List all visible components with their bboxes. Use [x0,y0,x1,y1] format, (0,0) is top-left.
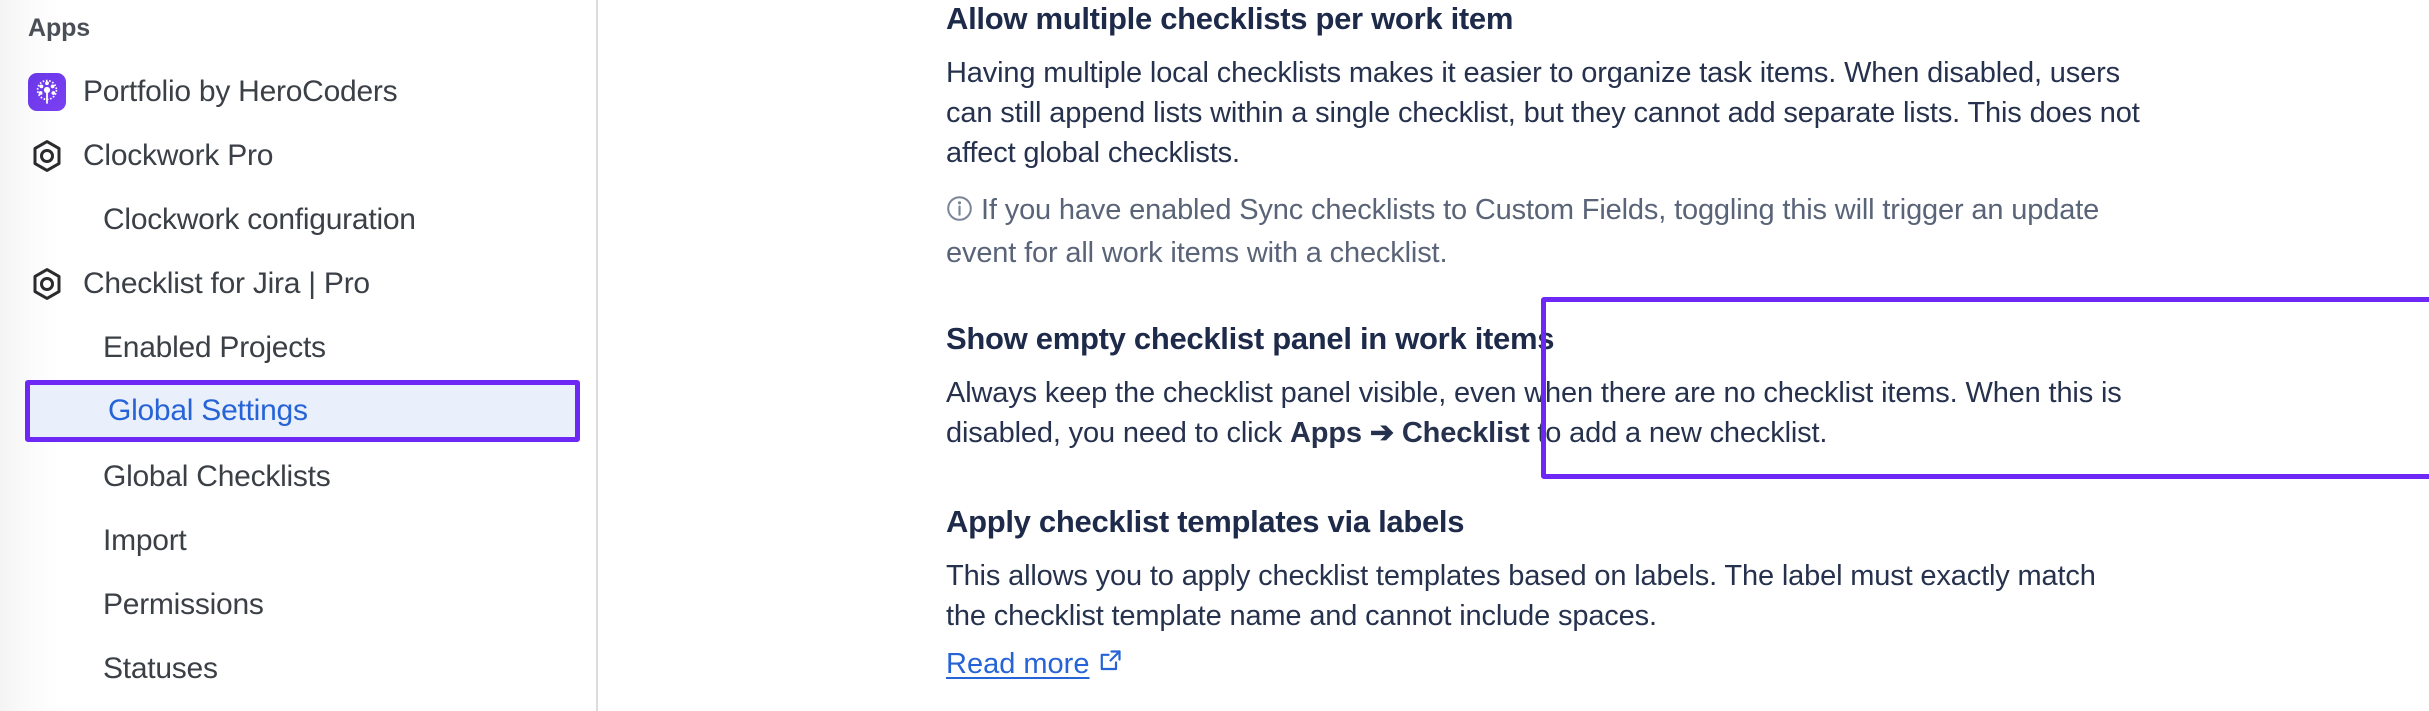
setting-description: This allows you to apply checklist templ… [946,556,2141,636]
sidebar: Apps Portfolio by HeroCoders [0,0,598,711]
sidebar-item-label: Enabled Projects [103,331,326,365]
sidebar-item-global-settings[interactable]: Global Settings [25,380,580,442]
sidebar-item-label: Global Checklists [103,460,331,494]
setting-description-bold: Apps ➔ Checklist [1290,417,1529,449]
hexagon-gear-icon [28,265,66,303]
settings-page: Apps Portfolio by HeroCoders [0,0,2429,711]
setting-description: Always keep the checklist panel visible,… [946,373,2141,453]
sidebar-item-clockwork-pro[interactable]: Clockwork Pro [0,124,598,188]
setting-title: Show empty checklist panel in work items [946,320,2141,357]
sidebar-item-checklist-for-jira-pro[interactable]: Checklist for Jira | Pro [0,252,598,316]
portfolio-app-icon [28,73,66,111]
sidebar-item-permissions[interactable]: Permissions [0,573,598,637]
read-more-link[interactable]: Read more [946,648,1123,681]
sidebar-item-import[interactable]: Import [0,509,598,573]
setting-title: Allow multiple checklists per work item [946,0,2146,37]
sidebar-item-label: Clockwork configuration [103,203,416,237]
external-link-icon [1098,648,1123,681]
setting-title: Apply checklist templates via labels [946,503,2141,540]
setting-description: Having multiple local checklists makes i… [946,53,2141,173]
sidebar-item-portfolio-by-herocoders[interactable]: Portfolio by HeroCoders [0,60,598,124]
sidebar-item-clockwork-configuration[interactable]: Clockwork configuration [0,188,598,252]
sidebar-item-label: Global Settings [108,394,308,428]
setting-apply-checklist-templates-via-labels: Apply checklist templates via labels Thi… [946,503,2429,681]
hexagon-gear-icon [28,137,66,175]
sidebar-item-label: Portfolio by HeroCoders [83,75,397,109]
setting-allow-multiple-checklists: Allow multiple checklists per work item … [946,0,2429,273]
setting-show-empty-checklist-panel: Show empty checklist panel in work items… [946,320,2429,453]
info-icon [946,193,973,233]
setting-note: If you have enabled Sync checklists to C… [946,190,2146,273]
setting-description-part2: to add a new checklist. [1529,417,1827,449]
read-more-label: Read more [946,648,1089,681]
setting-note-text: If you have enabled Sync checklists to C… [946,194,2099,269]
sidebar-item-statuses[interactable]: Statuses [0,637,598,701]
sidebar-item-label: Import [103,524,187,558]
sidebar-item-label: Clockwork Pro [83,139,273,173]
sidebar-item-label: Checklist for Jira | Pro [83,267,370,301]
settings-main: Allow multiple checklists per work item … [598,0,2429,711]
sidebar-item-global-checklists[interactable]: Global Checklists [0,445,598,509]
sidebar-item-label: Permissions [103,588,264,622]
sidebar-heading-apps: Apps [0,14,598,43]
sidebar-item-label: Statuses [103,652,218,686]
sidebar-item-enabled-projects[interactable]: Enabled Projects [0,316,598,380]
